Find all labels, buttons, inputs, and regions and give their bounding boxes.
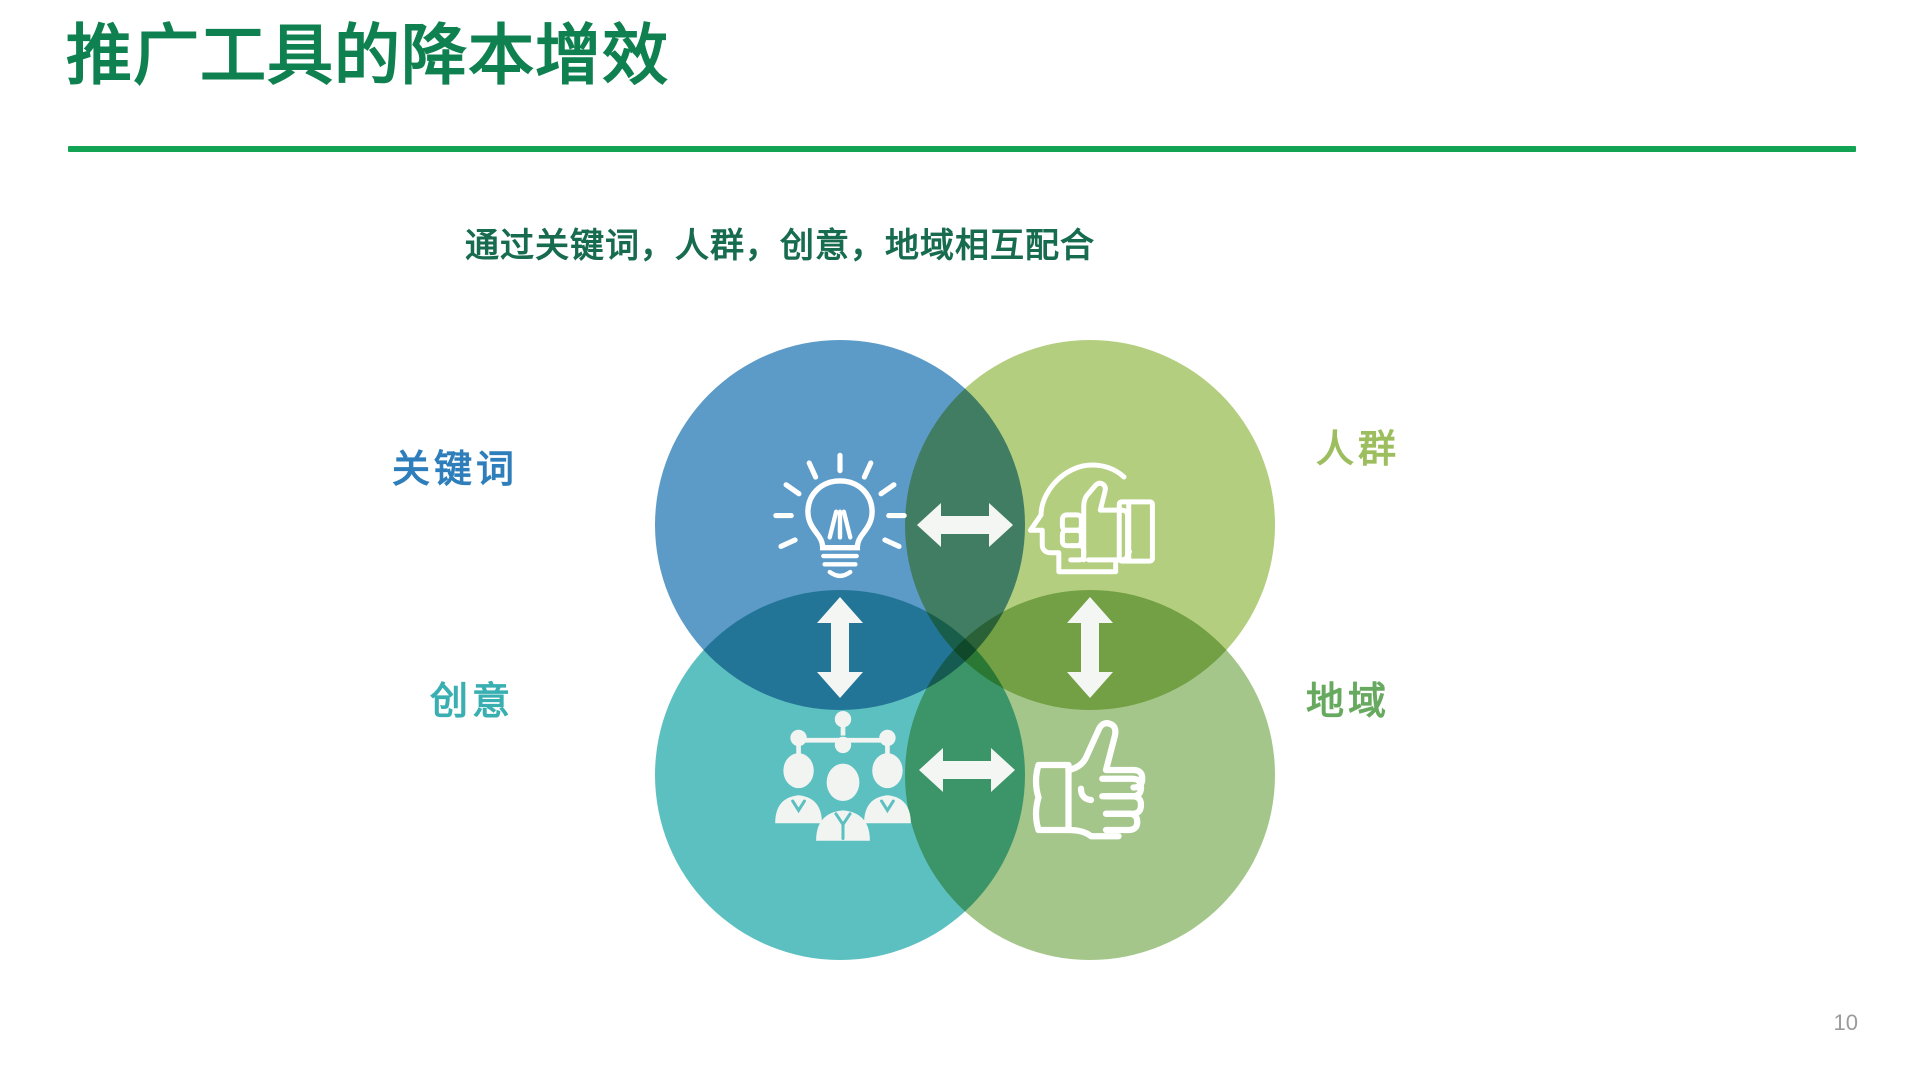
page-number: 10 <box>1834 1010 1858 1036</box>
venn-circle-region[interactable] <box>905 590 1275 960</box>
title-divider <box>68 146 1856 152</box>
venn-label-region: 地域 <box>1306 670 1390 725</box>
venn-diagram <box>655 340 1275 960</box>
venn-label-creative: 创意 <box>430 670 514 725</box>
venn-label-keywords: 关键词 <box>392 438 518 493</box>
venn-label-audience: 人群 <box>1316 418 1400 473</box>
page-title: 推广工具的降本增效 <box>66 18 669 94</box>
subtitle-row: 通过关键词，人群，创意，地域相互配合 <box>0 218 1920 267</box>
slide-canvas: 推广工具的降本增效 通过关键词，人群，创意，地域相互配合 <box>0 0 1920 1080</box>
subtitle-text: 通过关键词，人群，创意，地域相互配合 <box>465 218 1095 267</box>
